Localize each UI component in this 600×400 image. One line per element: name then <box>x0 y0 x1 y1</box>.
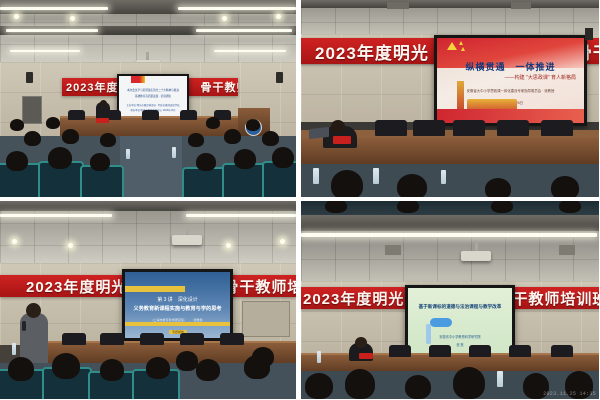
wall-speaker <box>585 28 593 40</box>
slide-affiliation: 安徽省中小学教育科学研究院 <box>408 334 512 339</box>
auditorium-seat <box>182 167 226 197</box>
banner-text-left: 2023年度明光 <box>303 288 404 309</box>
wall-speaker <box>276 72 283 83</box>
water-bottle <box>373 168 379 184</box>
attendee-head <box>224 129 241 144</box>
ceiling-light <box>0 7 108 10</box>
ceiling-light <box>6 29 98 32</box>
slide-graphic-star-icon <box>459 41 463 45</box>
stage-chair <box>140 333 164 345</box>
presenter-head <box>355 337 367 348</box>
attendee-head <box>397 201 419 213</box>
attendee-head <box>6 151 28 171</box>
photo-panel-bottom-left[interactable]: 2023年度明光 骨干教师培 第 3 讲 深化设计 义务教育新课程实施与教育与学… <box>0 201 296 399</box>
attendee-head <box>252 347 274 367</box>
presenter-head <box>331 120 345 133</box>
slide-subtitle: 义务教育新课程实施与教育与学的思考 <box>125 305 230 312</box>
attendee-head <box>100 133 116 147</box>
laptop <box>309 127 329 139</box>
downlight-icon <box>222 16 227 21</box>
attendee-head <box>397 174 427 197</box>
slide-graphic-star-icon <box>461 47 465 51</box>
wall-notice-board <box>242 301 290 337</box>
attendee-head <box>559 201 581 213</box>
ceiling-light <box>0 214 112 217</box>
attendee-head <box>345 369 375 399</box>
ceiling-light <box>214 50 286 52</box>
stage-chair <box>375 120 407 136</box>
slide-accent-bar <box>125 286 185 292</box>
attendee-head <box>405 375 431 399</box>
water-bottle <box>172 147 176 158</box>
attendee-head <box>246 119 260 131</box>
slide-line: 本次会议学习贯彻落实党的二十大精神与推进 <box>119 88 187 92</box>
photo-panel-bottom-right[interactable]: 2023年度明光 骨干教师培训班 基于新课标的道德与法治课程与教学改革 安徽省中… <box>301 201 599 399</box>
stage-chair <box>453 120 485 136</box>
attendee-head <box>325 201 347 213</box>
photo-collage: 2023年度明光 骨干教师培训班 本次会议学习贯彻落实党的二十大精神与推进 基础… <box>0 0 600 400</box>
attendee-head <box>176 351 198 371</box>
water-bottle <box>441 170 446 184</box>
stage-chair <box>220 333 244 345</box>
attendee-head <box>196 359 220 381</box>
downlight-icon <box>12 239 17 244</box>
attendee-head <box>485 178 511 197</box>
slide-graphic-cloud-icon <box>430 318 452 327</box>
slide-line: 主办单位:明光市教育体育局 · 明光市教师进修学校 <box>119 103 187 107</box>
attendee-head <box>146 357 170 379</box>
name-plate <box>333 136 351 144</box>
downlight-icon <box>280 239 285 244</box>
ceiling-light <box>196 29 292 32</box>
projector <box>461 251 491 261</box>
ceiling-vent <box>511 2 531 9</box>
stage-chair <box>541 120 573 136</box>
projection-screen: 第 3 讲 深化设计 义务教育新课程实施与教育与学的思考 (上海市教育科学研究院… <box>122 269 233 341</box>
stage-chair <box>429 345 451 357</box>
ceiling-beam <box>301 215 599 231</box>
ceiling-light <box>10 50 80 52</box>
attendee-head <box>331 170 363 197</box>
projection-screen: 纵横贯通 一体推进 ——构建 "大思政课" 育人新格局 安徽省大中小学思政课一体… <box>434 35 587 126</box>
attendee-head <box>453 367 485 399</box>
slide-accent-bar <box>125 322 230 326</box>
slide-subtitle: ——构建 "大思政课" 育人新格局 <box>505 74 576 81</box>
photo-panel-top-right[interactable]: 2023年度明光 骨干 纵横贯通 一体推进 ——构建 "大思政课" 育人新格局 … <box>301 0 599 197</box>
stage-chair <box>62 333 86 345</box>
stage-chair <box>100 333 124 345</box>
ceiling-vent <box>559 245 575 255</box>
attendee-head <box>262 131 279 146</box>
attendee-head <box>234 149 256 169</box>
attendee-head <box>551 176 579 197</box>
banner-text-right: 骨干教师培训班 <box>200 79 238 95</box>
attendee-head <box>196 153 216 171</box>
attendee-head <box>46 117 60 129</box>
water-bottle <box>317 351 321 363</box>
attendee-head <box>90 153 110 171</box>
slide-affiliation: (上海市教育科学研究院) 张教授 <box>125 318 230 322</box>
banner-text-left: 2023年度明光 <box>315 39 429 64</box>
ceiling-light <box>186 214 296 217</box>
projector <box>172 235 202 245</box>
audience <box>0 117 296 197</box>
attendee-head <box>206 117 220 129</box>
attendee-head <box>52 353 80 379</box>
attendee-head <box>24 131 41 146</box>
photo-panel-top-left[interactable]: 2023年度明光 骨干教师培训班 本次会议学习贯彻落实党的二十大精神与推进 基础… <box>0 0 296 197</box>
attendee-head <box>8 357 34 381</box>
ceiling-beam <box>0 201 296 211</box>
stage-chair <box>551 345 573 357</box>
wall-speaker <box>26 72 33 83</box>
attendee-head <box>188 133 204 147</box>
ceiling-light <box>178 7 296 10</box>
slide-title: 纵横贯通 一体推进 <box>437 60 584 73</box>
slide-graphic-star-icon <box>447 42 457 50</box>
stage-chair <box>497 120 529 136</box>
attendee-head <box>10 119 24 131</box>
microphone-icon <box>22 321 26 331</box>
stage-chair <box>509 345 531 357</box>
downlight-icon <box>14 14 19 19</box>
photo-timestamp: 2023.11.25 14:35 <box>543 391 596 397</box>
ceiling-light <box>301 233 597 237</box>
ceiling-vent <box>385 245 401 255</box>
stage-chair <box>389 345 411 357</box>
attendee-head <box>305 373 333 399</box>
stage-chair <box>180 333 204 345</box>
water-bottle <box>313 168 319 184</box>
water-bottle <box>126 149 130 159</box>
downlight-icon <box>70 16 75 21</box>
banner-text-left: 2023年度明光 <box>26 276 127 297</box>
attendee-head <box>62 129 79 144</box>
downlight-icon <box>276 14 281 19</box>
presenter-head <box>100 100 107 107</box>
attendee-head <box>272 147 294 168</box>
attendee-head <box>491 201 513 213</box>
downlight-icon <box>226 243 231 248</box>
projection-screen: 基于新课标的道德与法治课程与教学改革 安徽省中小学教育科学研究院 张 慧 <box>405 285 515 357</box>
slide-title: 第 3 讲 深化设计 <box>125 296 230 303</box>
downlight-icon <box>68 243 73 248</box>
attendee-head <box>48 147 72 169</box>
standing-speaker-head <box>26 303 41 318</box>
ceiling-vent <box>387 2 409 9</box>
slide-presenter: 张 慧 <box>408 342 512 347</box>
water-bottle <box>497 371 503 387</box>
stage-chair <box>413 120 445 136</box>
slide-title: 基于新课标的道德与法治课程与教学改革 <box>408 304 512 310</box>
ceiling-beam <box>301 0 599 8</box>
slide-line: 基础教育高质量发展 · 培训通知 <box>119 94 187 98</box>
name-plate <box>359 353 373 359</box>
banner-text-right: 骨干教师培 <box>223 276 296 297</box>
stage-chair <box>469 345 491 357</box>
attendee-head <box>100 359 124 381</box>
